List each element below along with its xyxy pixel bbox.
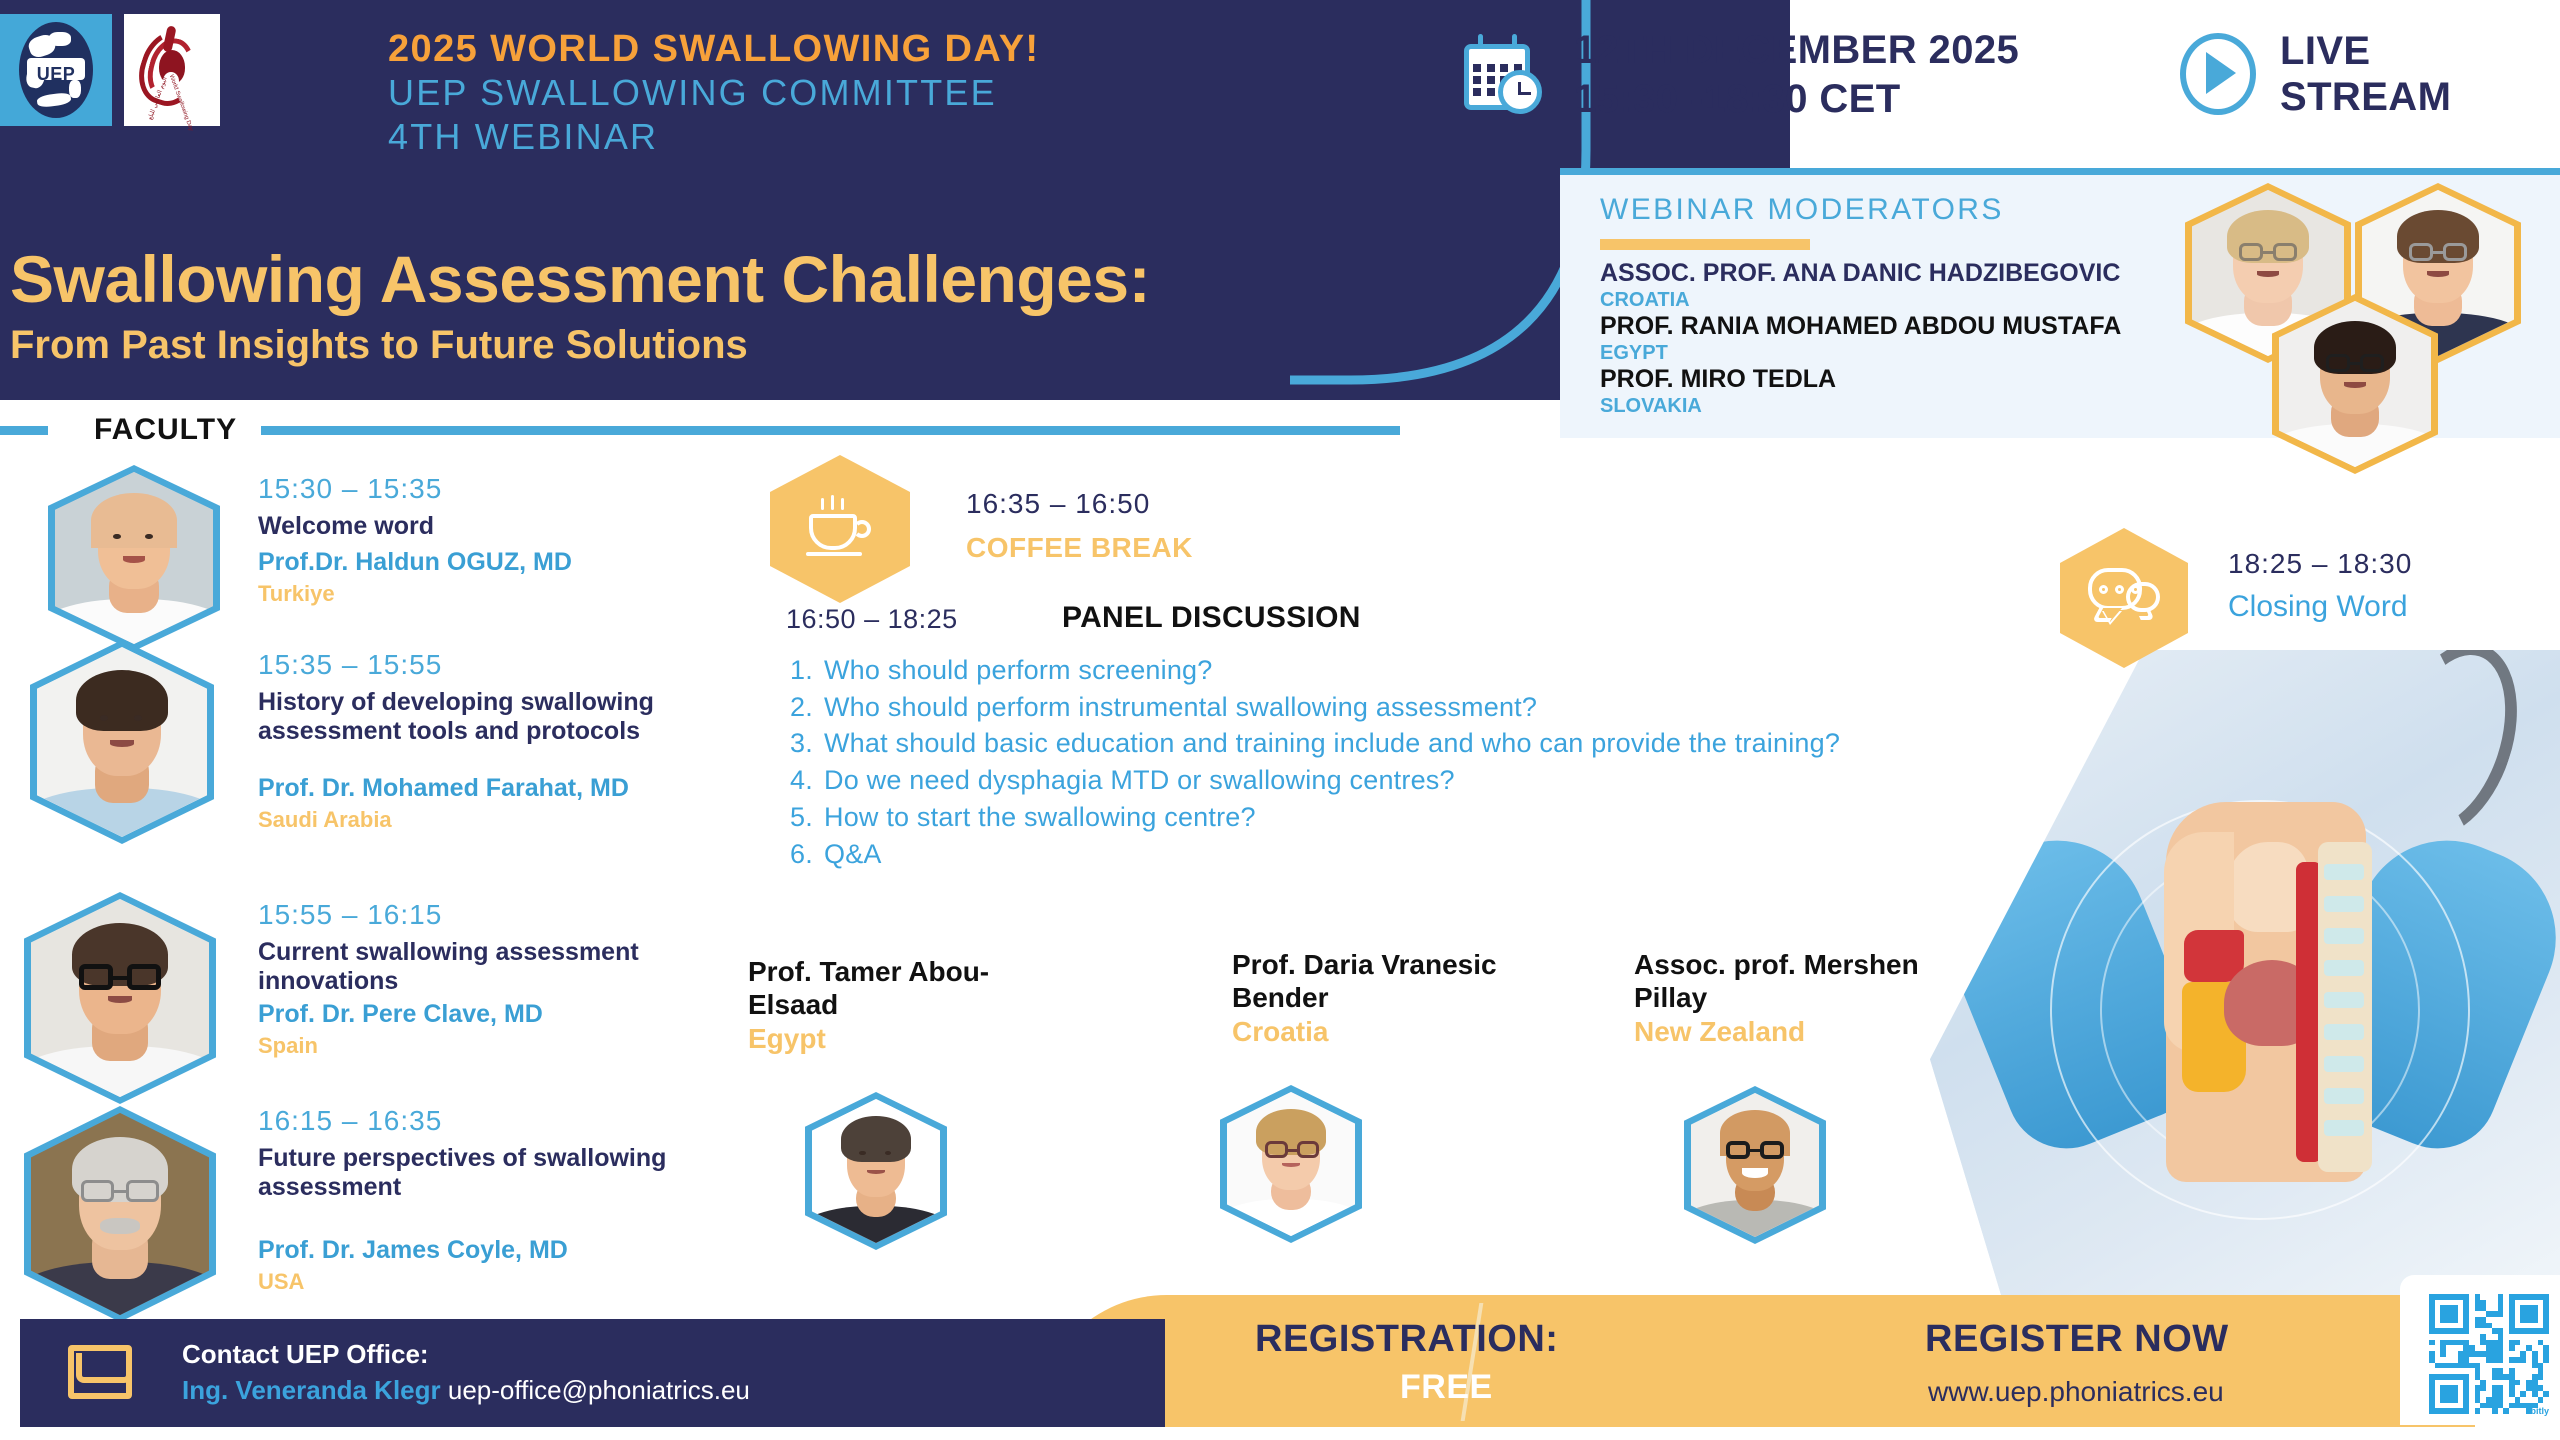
session-speaker: Prof. Dr. James Coyle, MD: [258, 1235, 728, 1265]
session-topic: Current swallowing assessment innovation…: [258, 938, 728, 997]
moderator-country: EGYPT: [1600, 341, 2121, 365]
chat-bubbles-icon: [2088, 568, 2160, 628]
uep-logo: UEP: [0, 14, 112, 126]
header-title-line3: 4TH WEBINAR: [388, 115, 1040, 159]
moderator-name: PROF. RANIA MOHAMED ABDOU MUSTAFA: [1600, 312, 2121, 341]
registration-label: REGISTRATION:: [1255, 1318, 1558, 1361]
panel-question-text: Who should perform instrumental swallowi…: [824, 689, 1900, 726]
moderator-country: CROATIA: [1600, 288, 2121, 312]
panel-question-text: Do we need dysphagia MTD or swallowing c…: [824, 762, 1900, 799]
panelist-name: Prof. Daria Vranesic: [1232, 948, 1562, 981]
panelist-country: Croatia: [1232, 1014, 1562, 1050]
qr-code-grid: [2429, 1294, 2549, 1414]
faculty-divider: FACULTY: [0, 412, 1400, 448]
session-text: 15:35 – 15:55 History of developing swal…: [258, 648, 728, 833]
live-label-line1: LIVE: [2280, 28, 2451, 74]
panelist-name-second-line: Bender: [1232, 981, 1562, 1014]
anatomy-illustration: [1930, 650, 2560, 1310]
panel-question-text: How to start the swallowing centre?: [824, 799, 1900, 836]
moderator-entry: PROF. RANIA MOHAMED ABDOU MUSTAFA EGYPT: [1600, 312, 2121, 365]
closing-time: 18:25 – 18:30: [2228, 548, 2412, 580]
speaker-avatar: [48, 465, 220, 651]
globe-icon: UEP: [19, 22, 93, 118]
date-line: 12TH DECEMBER 2025: [1574, 26, 2019, 75]
date-text-group: 12TH DECEMBER 2025 15:30 -18:30 CET: [1574, 26, 2019, 124]
panelist-avatar: [1220, 1085, 1362, 1243]
panel-question: 3. What should basic education and train…: [790, 725, 1900, 762]
world-swallowing-day-logo: اليوم العالمي للبلع World Swallowing Day: [124, 14, 220, 126]
qr-code[interactable]: bitly: [2425, 1290, 2553, 1418]
panel-question: 6. Q&A: [790, 836, 1900, 873]
registration-banner: [1035, 1295, 2475, 1427]
faculty-dash-left: [0, 426, 48, 435]
session-speaker: Prof. Dr. Pere Clave, MD: [258, 999, 728, 1029]
live-stream-block: LIVE STREAM: [2180, 28, 2451, 121]
panel-title: PANEL DISCUSSION: [1062, 601, 1361, 635]
panelist-name: Prof. Tamer Abou- Elsaad: [748, 955, 1078, 1021]
page-title: Swallowing Assessment Challenges: From P…: [10, 246, 1150, 370]
panelist-name: Assoc. prof. Mershen: [1634, 948, 1974, 981]
panel-question: 1. Who should perform screening?: [790, 652, 1900, 689]
session-time: 15:35 – 15:55: [258, 648, 728, 682]
panelist-entry: Prof. Daria Vranesic Bender Croatia: [1232, 948, 1562, 1050]
coffee-break-label: COFFEE BREAK: [966, 532, 1193, 564]
panel-question: 4. Do we need dysphagia MTD or swallowin…: [790, 762, 1900, 799]
panel-question-text: Who should perform screening?: [824, 652, 1900, 689]
session-topic: Welcome word: [258, 512, 738, 542]
moderator-country: SLOVAKIA: [1600, 394, 2121, 418]
contact-heading: Contact UEP Office:: [182, 1339, 429, 1370]
panelist-avatar: [1684, 1086, 1826, 1244]
moderator-name: ASSOC. PROF. ANA DANIC HADZIBEGOVIC: [1600, 259, 2121, 288]
faculty-dash-right: [261, 426, 1400, 435]
panel-question-number: 2.: [790, 689, 824, 726]
uep-logo-text: UEP: [19, 64, 93, 85]
register-url[interactable]: www.uep.phoniatrics.eu: [1928, 1376, 2224, 1408]
panel-time: 16:50 – 18:25: [786, 604, 958, 635]
page-title-line2: From Past Insights to Future Solutions: [10, 320, 1150, 370]
panel-question: 2. Who should perform instrumental swall…: [790, 689, 1900, 726]
moderators-underline: [1600, 239, 1810, 250]
moderator-entry: ASSOC. PROF. ANA DANIC HADZIBEGOVIC CROA…: [1600, 259, 2121, 312]
session-country: Spain: [258, 1033, 728, 1059]
register-now-label[interactable]: REGISTER NOW: [1925, 1318, 2229, 1361]
contact-banner: [20, 1319, 1165, 1427]
session-time: 16:15 – 16:35: [258, 1104, 728, 1138]
session-topic: History of developing swallowing assessm…: [258, 688, 728, 747]
wsd-mark-icon: اليوم العالمي للبلع World Swallowing Day: [137, 24, 207, 116]
closing-label: Closing Word: [2228, 590, 2408, 624]
speaker-avatar: [24, 892, 216, 1104]
speaker-avatar: [24, 1106, 216, 1322]
panel-question-number: 1.: [790, 652, 824, 689]
panel-question-text: Q&A: [824, 836, 1900, 873]
head-neck-cross-section: [2166, 802, 2366, 1182]
date-time-block: 12TH DECEMBER 2025 15:30 -18:30 CET: [1460, 26, 2019, 124]
moderator-name: PROF. MIRO TEDLA: [1600, 365, 2121, 394]
header-title-line1: 2025 WORLD SWALLOWING DAY!: [388, 28, 1040, 71]
calendar-clock-icon: [1460, 32, 1546, 118]
closing-word-icon-hex: [2060, 528, 2188, 668]
time-line: 15:30 -18:30 CET: [1574, 75, 2019, 124]
session-time: 15:55 – 16:15: [258, 898, 728, 932]
registration-value: FREE: [1400, 1368, 1493, 1407]
session-country: Turkiye: [258, 581, 738, 607]
speaker-avatar: [30, 640, 214, 844]
moderator-avatar: [2272, 294, 2438, 474]
panelist-country: New Zealand: [1634, 1014, 1974, 1050]
mail-icon: [68, 1345, 132, 1399]
panelist-avatar: [805, 1092, 947, 1250]
contact-name: Ing. Veneranda Klegr: [182, 1375, 441, 1405]
panel-question-number: 3.: [790, 725, 824, 762]
coffee-cup-icon: [809, 500, 871, 558]
panel-question: 5. How to start the swallowing centre?: [790, 799, 1900, 836]
page-title-line1: Swallowing Assessment Challenges:: [10, 246, 1150, 312]
coffee-break-time: 16:35 – 16:50: [966, 488, 1150, 520]
poster-canvas: UEP اليوم العالمي للبلع World Swallowing…: [0, 0, 2560, 1440]
panelist-entry: Prof. Tamer Abou- Elsaad Egypt: [748, 955, 1078, 1057]
header-title-group: 2025 WORLD SWALLOWING DAY! UEP SWALLOWIN…: [388, 28, 1040, 159]
session-topic: Future perspectives of swallowing assess…: [258, 1144, 728, 1203]
moderator-entry: PROF. MIRO TEDLA SLOVAKIA: [1600, 365, 2121, 418]
session-text: 16:15 – 16:35 Future perspectives of swa…: [258, 1104, 728, 1295]
panel-question-number: 6.: [790, 836, 824, 873]
play-icon: [2180, 33, 2256, 115]
contact-details: Ing. Veneranda Klegr uep-office@phoniatr…: [182, 1375, 750, 1406]
contact-email[interactable]: uep-office@phoniatrics.eu: [448, 1375, 750, 1405]
panel-question-number: 4.: [790, 762, 824, 799]
header-title-line2: UEP SWALLOWING COMMITTEE: [388, 71, 1040, 115]
session-time: 15:30 – 15:35: [258, 472, 738, 506]
faculty-label: FACULTY: [94, 413, 237, 447]
session-text: 15:55 – 16:15 Current swallowing assessm…: [258, 898, 728, 1059]
panel-question-text: What should basic education and training…: [824, 725, 1900, 762]
panel-question-number: 5.: [790, 799, 824, 836]
panelist-name-second-line: Pillay: [1634, 981, 1974, 1014]
live-label-line2: STREAM: [2280, 74, 2451, 120]
panel-questions-list: 1. Who should perform screening? 2. Who …: [790, 652, 1900, 872]
moderators-heading: WEBINAR MODERATORS: [1600, 193, 2004, 227]
session-speaker: Prof.Dr. Haldun OGUZ, MD: [258, 547, 738, 577]
session-text: 15:30 – 15:35 Welcome word Prof.Dr. Hald…: [258, 472, 738, 607]
live-stream-text: LIVE STREAM: [2280, 28, 2451, 121]
panelist-country: Egypt: [748, 1021, 1078, 1057]
panelist-entry: Assoc. prof. Mershen Pillay New Zealand: [1634, 948, 1974, 1050]
qr-code-tag: bitly: [2530, 1406, 2549, 1416]
session-speaker: Prof. Dr. Mohamed Farahat, MD: [258, 773, 728, 803]
session-country: USA: [258, 1269, 728, 1295]
session-country: Saudi Arabia: [258, 807, 728, 833]
coffee-break-icon-hex: [770, 455, 910, 603]
moderators-list: ASSOC. PROF. ANA DANIC HADZIBEGOVIC CROA…: [1600, 259, 2121, 418]
